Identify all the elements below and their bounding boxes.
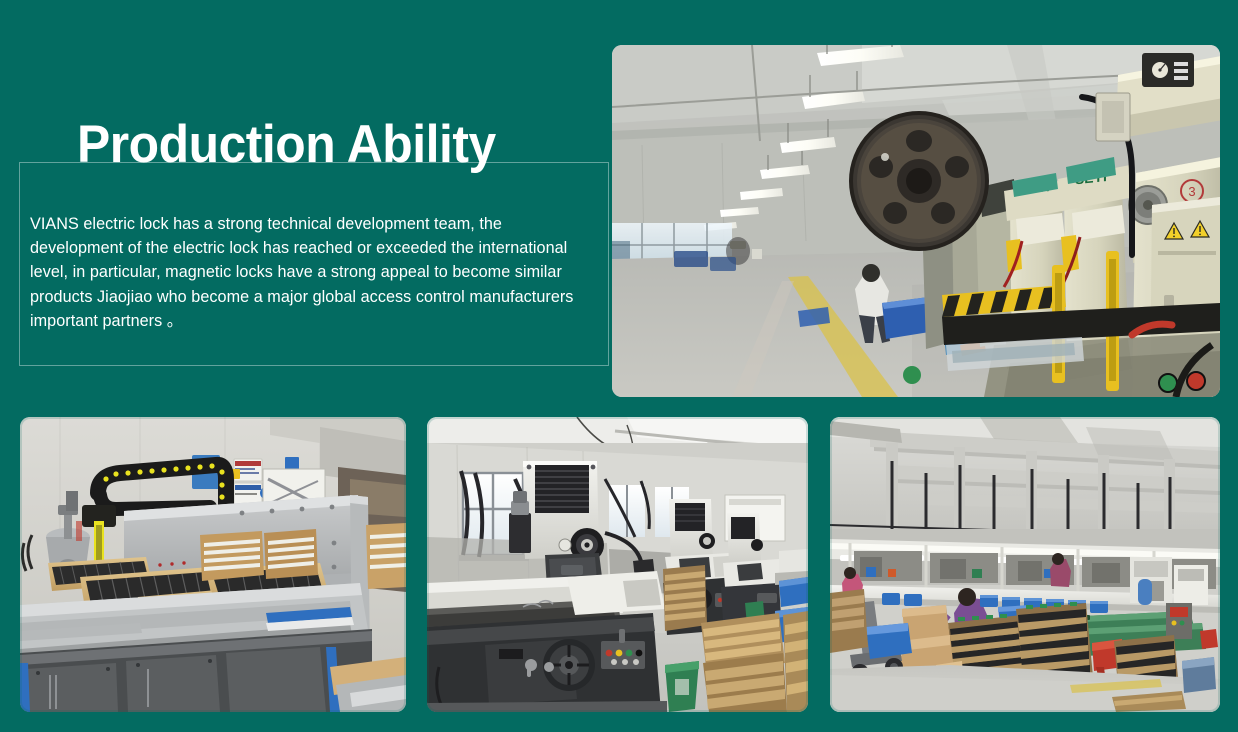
surface-grinder-workshop-photo (427, 417, 808, 712)
stamping-press-line-photo: SEYI SEYI (612, 45, 1220, 397)
production-ability-banner: Production Ability VIANS electric lock h… (0, 0, 1238, 732)
page-title: Production Ability (77, 118, 496, 171)
description-text: VIANS electric lock has a strong technic… (30, 212, 582, 333)
svg-text:3: 3 (1188, 184, 1195, 199)
automated-potting-machine-photo (20, 417, 406, 712)
assembly-line-workshop-photo (830, 417, 1220, 712)
text-column: Production Ability VIANS electric lock h… (0, 0, 612, 400)
